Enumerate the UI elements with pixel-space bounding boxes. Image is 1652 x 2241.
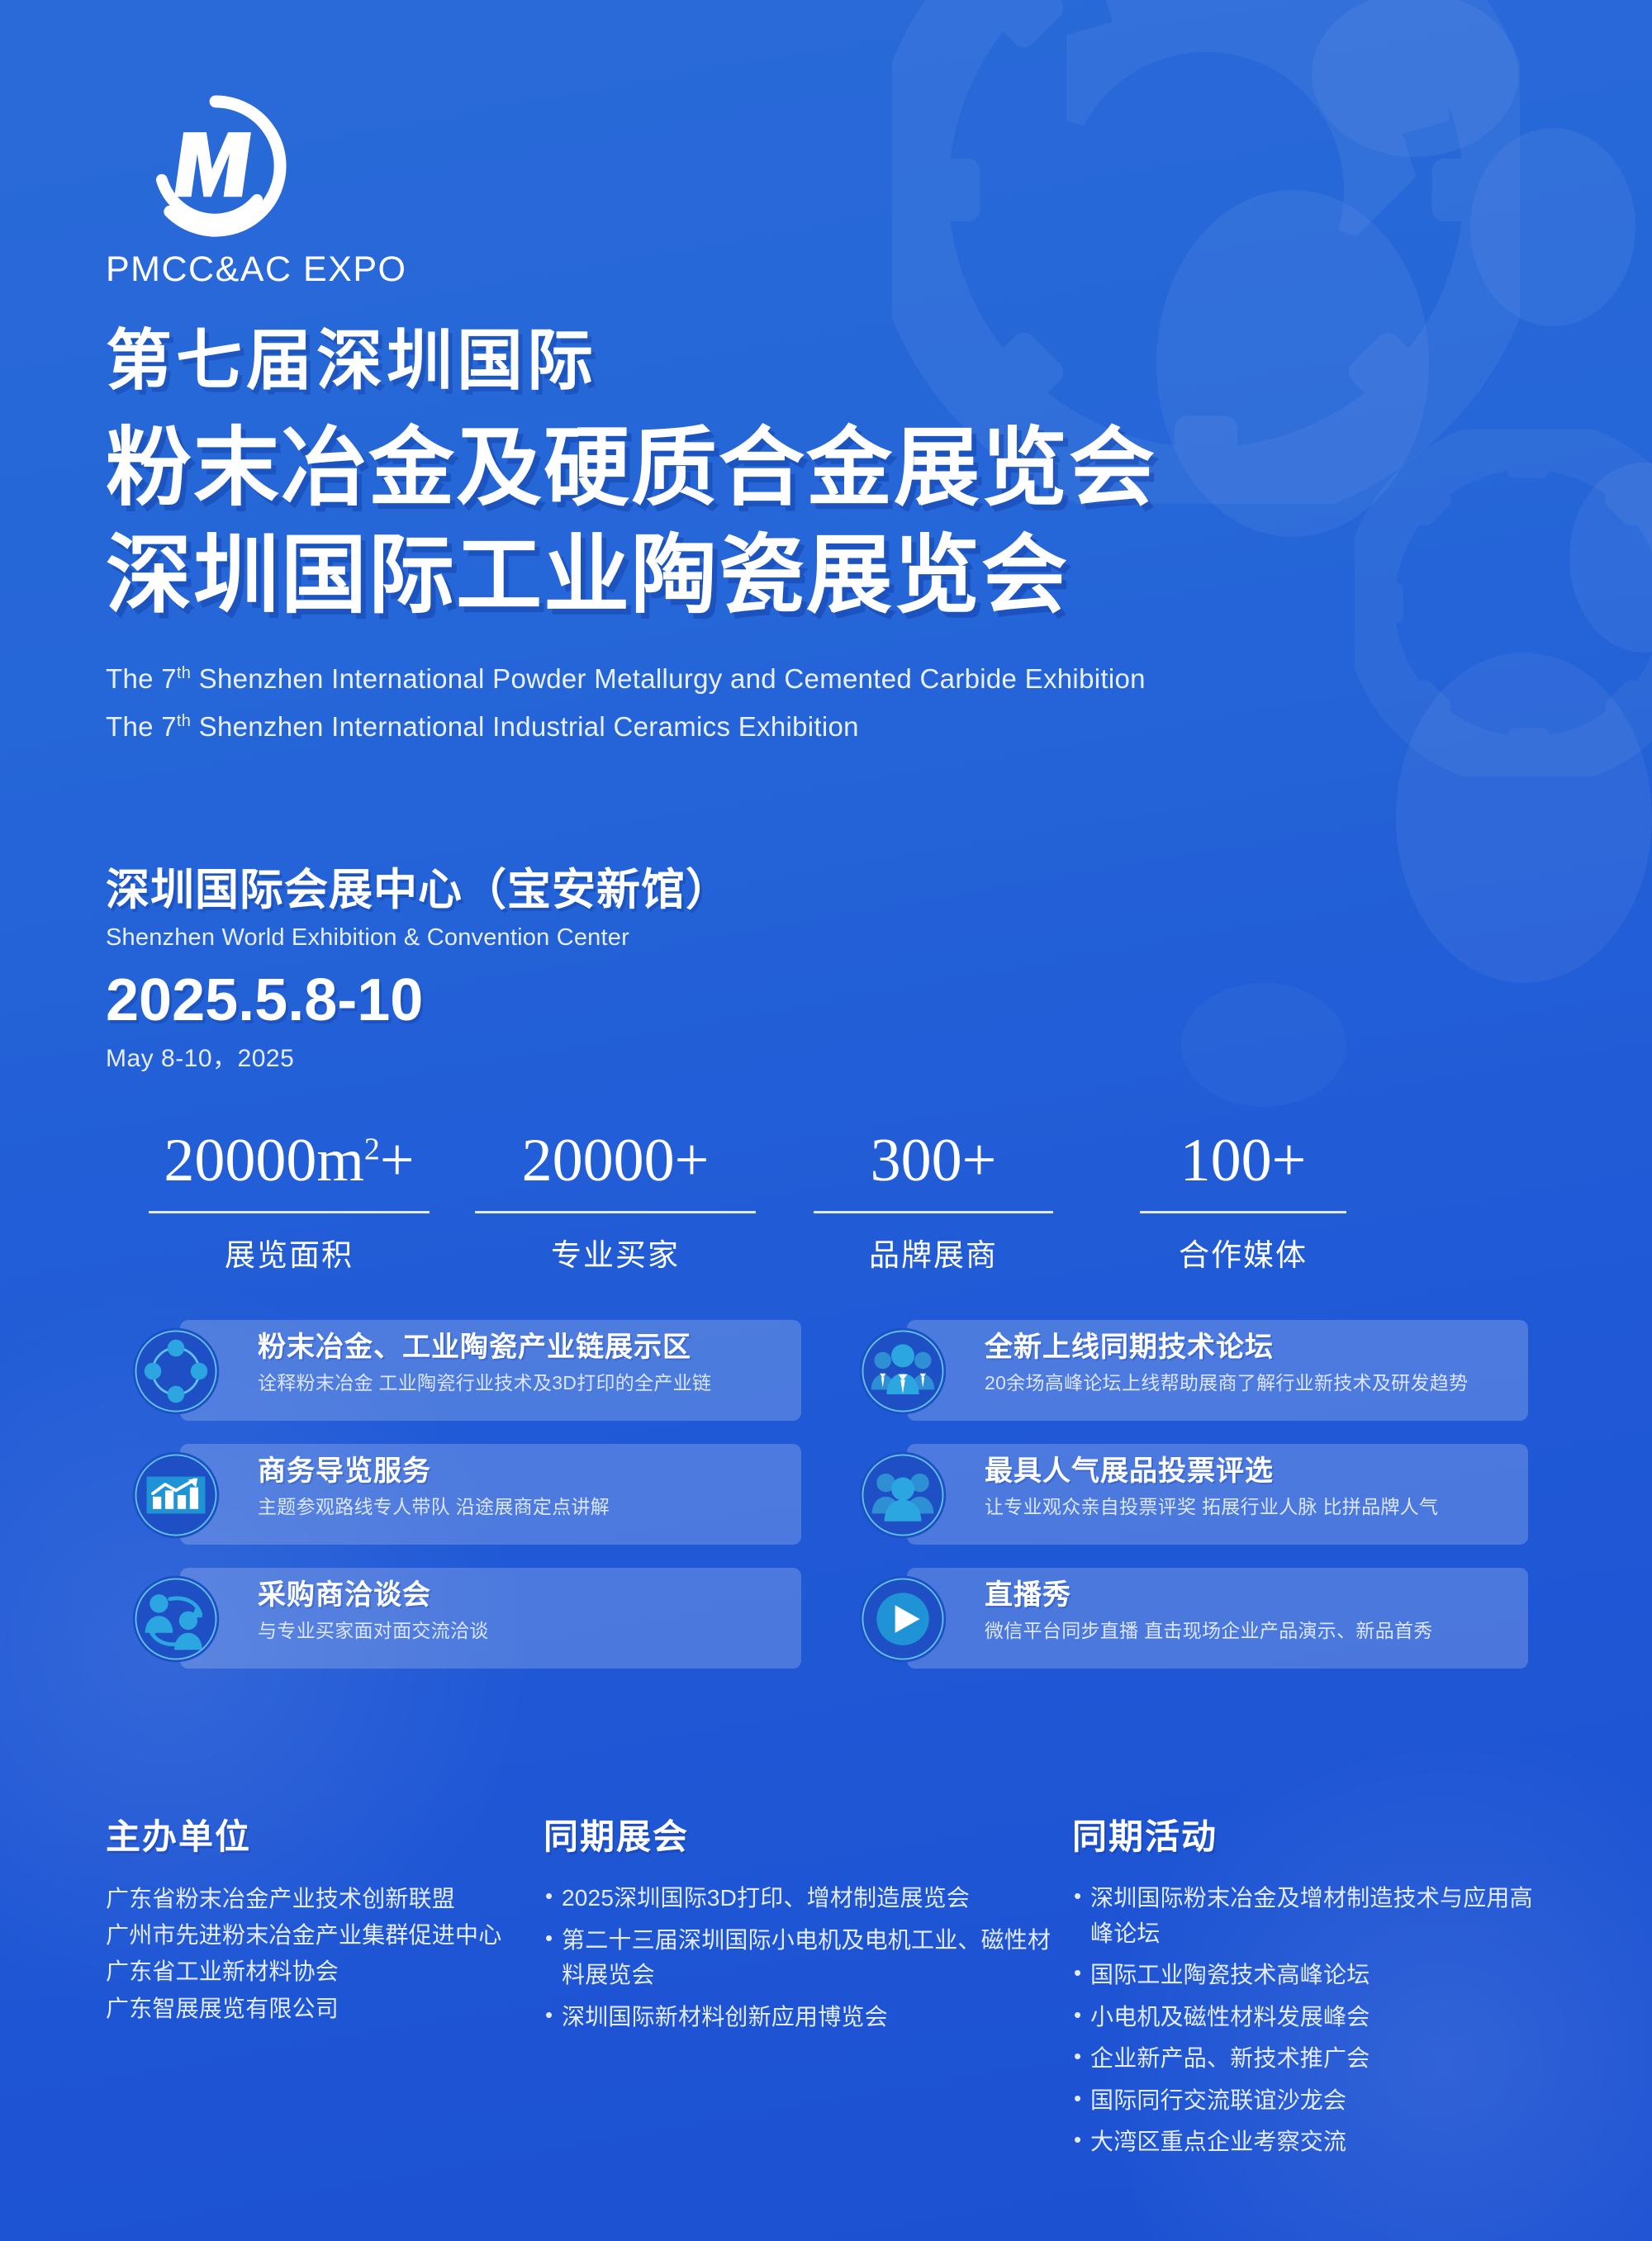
list-item: 国际同行交流联谊沙龙会 [1072, 2083, 1535, 2119]
stat-value: 300 [871, 1127, 962, 1194]
feature-card-title: 全新上线同期技术论坛 [985, 1332, 1508, 1364]
poster-root: PMCC&AC EXPO 第七届深圳国际 粉末冶金及硬质合金展览会 深圳国际工业… [0, 0, 1652, 2241]
stat-unit-exponent: 2 [364, 1132, 380, 1166]
stat-value: 20000 [522, 1127, 675, 1194]
english-2-pre: The 7 [106, 711, 177, 742]
footer-column-concurrent-exhibitions: 同期展会 2025深圳国际3D打印、增材制造展览会 第二十三届深圳国际小电机及电… [544, 1809, 1072, 2167]
footer-column-concurrent-activities: 同期活动 深圳国际粉末冶金及增材制造技术与应用高峰论坛 国际工业陶瓷技术高峰论坛… [1072, 1809, 1535, 2167]
feature-card-text: 全新上线同期技术论坛 20余场高峰论坛上线帮助展商了解行业新技术及研发趋势 [985, 1332, 1508, 1395]
headline-line-2: 粉末冶金及硬质合金展览会 [106, 418, 1559, 520]
organizer-name: 广东省粉末冶金产业技术创新联盟 [106, 1881, 544, 1917]
stat-divider [475, 1211, 756, 1213]
list-item: 国际工业陶瓷技术高峰论坛 [1072, 1958, 1535, 1993]
stat-value: 20000 [164, 1127, 316, 1194]
list-item: 小电机及磁性材料发展峰会 [1072, 2000, 1535, 2035]
list-item: 2025深圳国际3D打印、增材制造展览会 [544, 1881, 1072, 1916]
headline-block: 第七届深圳国际 粉末冶金及硬质合金展览会 深圳国际工业陶瓷展览会 The 7th… [106, 324, 1559, 751]
headline-english-block: The 7th Shenzhen International Powder Me… [106, 655, 1559, 751]
stat-item: 20000m2+ 展览面积 [124, 1130, 454, 1275]
feature-card-desc: 主题参观路线专人带队 沿途展商定点讲解 [258, 1496, 781, 1519]
feature-card[interactable]: 全新上线同期技术论坛 20余场高峰论坛上线帮助展商了解行业新技术及研发趋势 [851, 1320, 1528, 1421]
stat-unit: m [316, 1127, 364, 1194]
list-item: 深圳国际新材料创新应用博览会 [544, 2000, 1072, 2035]
list-item: 大湾区重点企业考察交流 [1072, 2125, 1535, 2160]
stat-label: 展览面积 [225, 1230, 354, 1275]
headline-english-2: The 7th Shenzhen International Industria… [106, 703, 1559, 751]
bar-chart-growth-icon [124, 1449, 228, 1541]
stat-number: 100+ [1180, 1130, 1307, 1191]
stat-plus: + [380, 1127, 415, 1194]
stat-label: 合作媒体 [1179, 1230, 1308, 1275]
stat-value: 100 [1180, 1127, 1272, 1194]
stat-number: 300+ [871, 1130, 997, 1191]
stat-label: 专业买家 [551, 1230, 680, 1275]
blob-circle [1181, 983, 1346, 1107]
feature-card-text: 商务导览服务 主题参观路线专人带队 沿途展商定点讲解 [258, 1455, 781, 1519]
pmcc-m-monogram-logo-icon [139, 89, 292, 243]
list-item: 第二十三届深圳国际小电机及电机工业、磁性材料展览会 [544, 1923, 1072, 1993]
feature-card-desc: 诠释粉末冶金 工业陶瓷行业技术及3D打印的全产业链 [258, 1372, 781, 1395]
blob-circle [1470, 128, 1635, 326]
feature-card-desc: 让专业观众亲自投票评奖 拓展行业人脉 比拼品牌人气 [985, 1496, 1508, 1519]
footer-column-title: 同期展会 [544, 1809, 1072, 1859]
stat-item: 20000+ 专业买家 [454, 1130, 776, 1275]
network-nodes-icon [124, 1325, 228, 1417]
stat-plus: + [962, 1127, 997, 1194]
feature-card-title: 最具人气展品投票评选 [985, 1455, 1508, 1488]
stat-divider [1140, 1211, 1346, 1213]
play-button-icon [851, 1573, 955, 1665]
stat-plus: + [675, 1127, 710, 1194]
brand-logo: PMCC&AC EXPO [106, 89, 453, 290]
feature-card-title: 直播秀 [985, 1579, 1508, 1612]
stat-plus: + [1272, 1127, 1307, 1194]
list-item: 企业新产品、新技术推广会 [1072, 2041, 1535, 2077]
feature-card-text: 最具人气展品投票评选 让专业观众亲自投票评奖 拓展行业人脉 比拼品牌人气 [985, 1455, 1508, 1519]
feature-card-title: 商务导览服务 [258, 1455, 781, 1488]
footer-column-title: 主办单位 [106, 1809, 544, 1859]
english-1-ordinal: th [177, 664, 191, 682]
event-date: 2025.5.8-10 [106, 966, 730, 1034]
feature-card[interactable]: 采购商洽谈会 与专业买家面对面交流洽谈 [124, 1568, 801, 1669]
footer-columns: 主办单位 广东省粉末冶金产业技术创新联盟 广州市先进粉末冶金产业集群促进中心 广… [106, 1809, 1559, 2167]
feature-card-desc: 微信平台同步直播 直击现场企业产品演示、新品首秀 [985, 1620, 1508, 1643]
headline-english-1: The 7th Shenzhen International Powder Me… [106, 655, 1559, 703]
feature-card[interactable]: 商务导览服务 主题参观路线专人带队 沿途展商定点讲解 [124, 1444, 801, 1545]
blob-circle [1569, 463, 1652, 653]
blob-circle [1312, 0, 1518, 157]
list-item: 深圳国际粉末冶金及增材制造技术与应用高峰论坛 [1072, 1881, 1535, 1951]
english-2-post: Shenzhen International Industrial Cerami… [191, 711, 859, 742]
stat-divider [814, 1211, 1053, 1213]
venue-name-en: Shenzhen World Exhibition & Convention C… [106, 924, 730, 952]
stat-number: 20000m2+ [164, 1130, 414, 1191]
two-people-exchange-icon [124, 1573, 228, 1665]
people-group-tie-icon [851, 1325, 955, 1417]
event-date-en: May 8-10，2025 [106, 1037, 730, 1074]
feature-card-text: 直播秀 微信平台同步直播 直击现场企业产品演示、新品首秀 [985, 1579, 1508, 1643]
stat-item: 300+ 品牌展商 [776, 1130, 1090, 1275]
feature-card[interactable]: 粉末冶金、工业陶瓷产业链展示区 诠释粉末冶金 工业陶瓷行业技术及3D打印的全产业… [124, 1320, 801, 1421]
stat-item: 100+ 合作媒体 [1090, 1130, 1396, 1275]
organizer-name: 广州市先进粉末冶金产业集群促进中心 [106, 1917, 544, 1954]
feature-card-desc: 与专业买家面对面交流洽谈 [258, 1620, 781, 1643]
feature-card-grid: 粉末冶金、工业陶瓷产业链展示区 诠释粉末冶金 工业陶瓷行业技术及3D打印的全产业… [124, 1320, 1528, 1669]
english-1-pre: The 7 [106, 663, 177, 694]
feature-card[interactable]: 最具人气展品投票评选 让专业观众亲自投票评奖 拓展行业人脉 比拼品牌人气 [851, 1444, 1528, 1545]
organizer-name: 广东省工业新材料协会 [106, 1954, 544, 1990]
english-1-post: Shenzhen International Powder Metallurgy… [191, 663, 1146, 694]
stat-label: 品牌展商 [869, 1230, 998, 1275]
feature-card-text: 采购商洽谈会 与专业买家面对面交流洽谈 [258, 1579, 781, 1643]
venue-name-cn: 深圳国际会展中心（宝安新馆） [106, 855, 730, 918]
english-2-ordinal: th [177, 712, 191, 730]
footer-column-title: 同期活动 [1072, 1809, 1535, 1859]
feature-card-desc: 20余场高峰论坛上线帮助展商了解行业新技术及研发趋势 [985, 1372, 1508, 1395]
venue-block: 深圳国际会展中心（宝安新馆） Shenzhen World Exhibition… [106, 855, 730, 1074]
headline-line-1: 第七届深圳国际 [106, 324, 1559, 398]
feature-card-title: 采购商洽谈会 [258, 1579, 781, 1612]
feature-card-text: 粉末冶金、工业陶瓷产业链展示区 诠释粉末冶金 工业陶瓷行业技术及3D打印的全产业… [258, 1332, 781, 1395]
stats-row: 20000m2+ 展览面积 20000+ 专业买家 300+ 品牌展商 100+… [124, 1130, 1528, 1275]
brand-logo-text: PMCC&AC EXPO [106, 249, 453, 290]
organizer-name: 广东智展展览有限公司 [106, 1991, 544, 2027]
headline-line-3: 深圳国际工业陶瓷展览会 [106, 525, 1559, 627]
footer-column-organizers: 主办单位 广东省粉末冶金产业技术创新联盟 广州市先进粉末冶金产业集群促进中心 广… [106, 1809, 544, 2167]
feature-card[interactable]: 直播秀 微信平台同步直播 直击现场企业产品演示、新品首秀 [851, 1568, 1528, 1669]
stat-number: 20000+ [522, 1130, 710, 1191]
stat-divider [149, 1211, 430, 1213]
three-people-icon [851, 1449, 955, 1541]
feature-card-title: 粉末冶金、工业陶瓷产业链展示区 [258, 1332, 781, 1364]
